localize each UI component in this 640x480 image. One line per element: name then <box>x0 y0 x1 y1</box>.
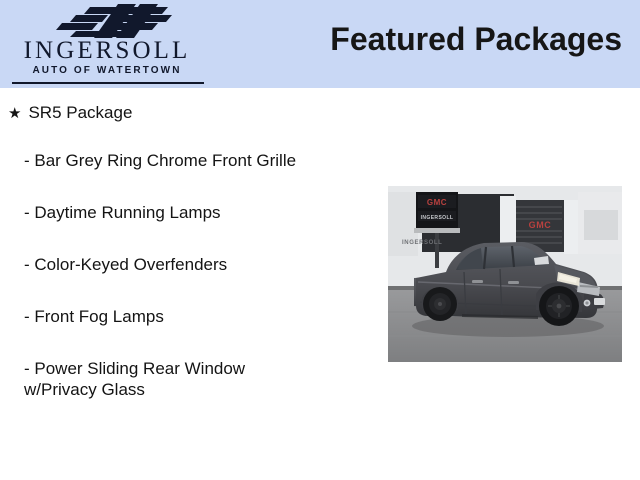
list-item: - Front Fog Lamps <box>24 306 374 327</box>
vehicle-photo-illustration: GMC INGERSOLL GMC INGERSOLL <box>388 186 622 362</box>
page-header: INGERSOLL AUTO OF WATERTOWN Featured Pac… <box>0 0 640 88</box>
package-heading-label: SR5 Package <box>28 103 132 122</box>
svg-text:INGERSOLL: INGERSOLL <box>421 215 454 221</box>
page-content: ★SR5 Package - Bar Grey Ring Chrome Fron… <box>0 88 640 480</box>
list-item: - Bar Grey Ring Chrome Front Grille <box>24 150 374 171</box>
svg-text:INGERSOLL: INGERSOLL <box>402 240 442 246</box>
page-title: Featured Packages <box>330 20 622 58</box>
vehicle-photo: GMC INGERSOLL GMC INGERSOLL <box>388 186 622 362</box>
list-item: - Daytime Running Lamps <box>24 202 374 223</box>
logo-underline-rule <box>12 82 204 84</box>
package-heading: ★SR5 Package <box>8 104 132 121</box>
list-item: - Color-Keyed Overfenders <box>24 254 374 275</box>
svg-text:GMC: GMC <box>529 220 552 230</box>
logo-tagline: AUTO OF WATERTOWN <box>8 66 206 76</box>
star-bullet-icon: ★ <box>8 105 21 122</box>
feature-list: - Bar Grey Ring Chrome Front Grille - Da… <box>24 150 374 400</box>
svg-text:GMC: GMC <box>427 198 447 207</box>
dealer-logo: INGERSOLL AUTO OF WATERTOWN <box>8 2 206 86</box>
ingersoll-wing-mark <box>46 4 176 38</box>
logo-wordmark: INGERSOLL <box>8 38 206 63</box>
list-item: - Power Sliding Rear Window w/Privacy Gl… <box>24 358 374 400</box>
